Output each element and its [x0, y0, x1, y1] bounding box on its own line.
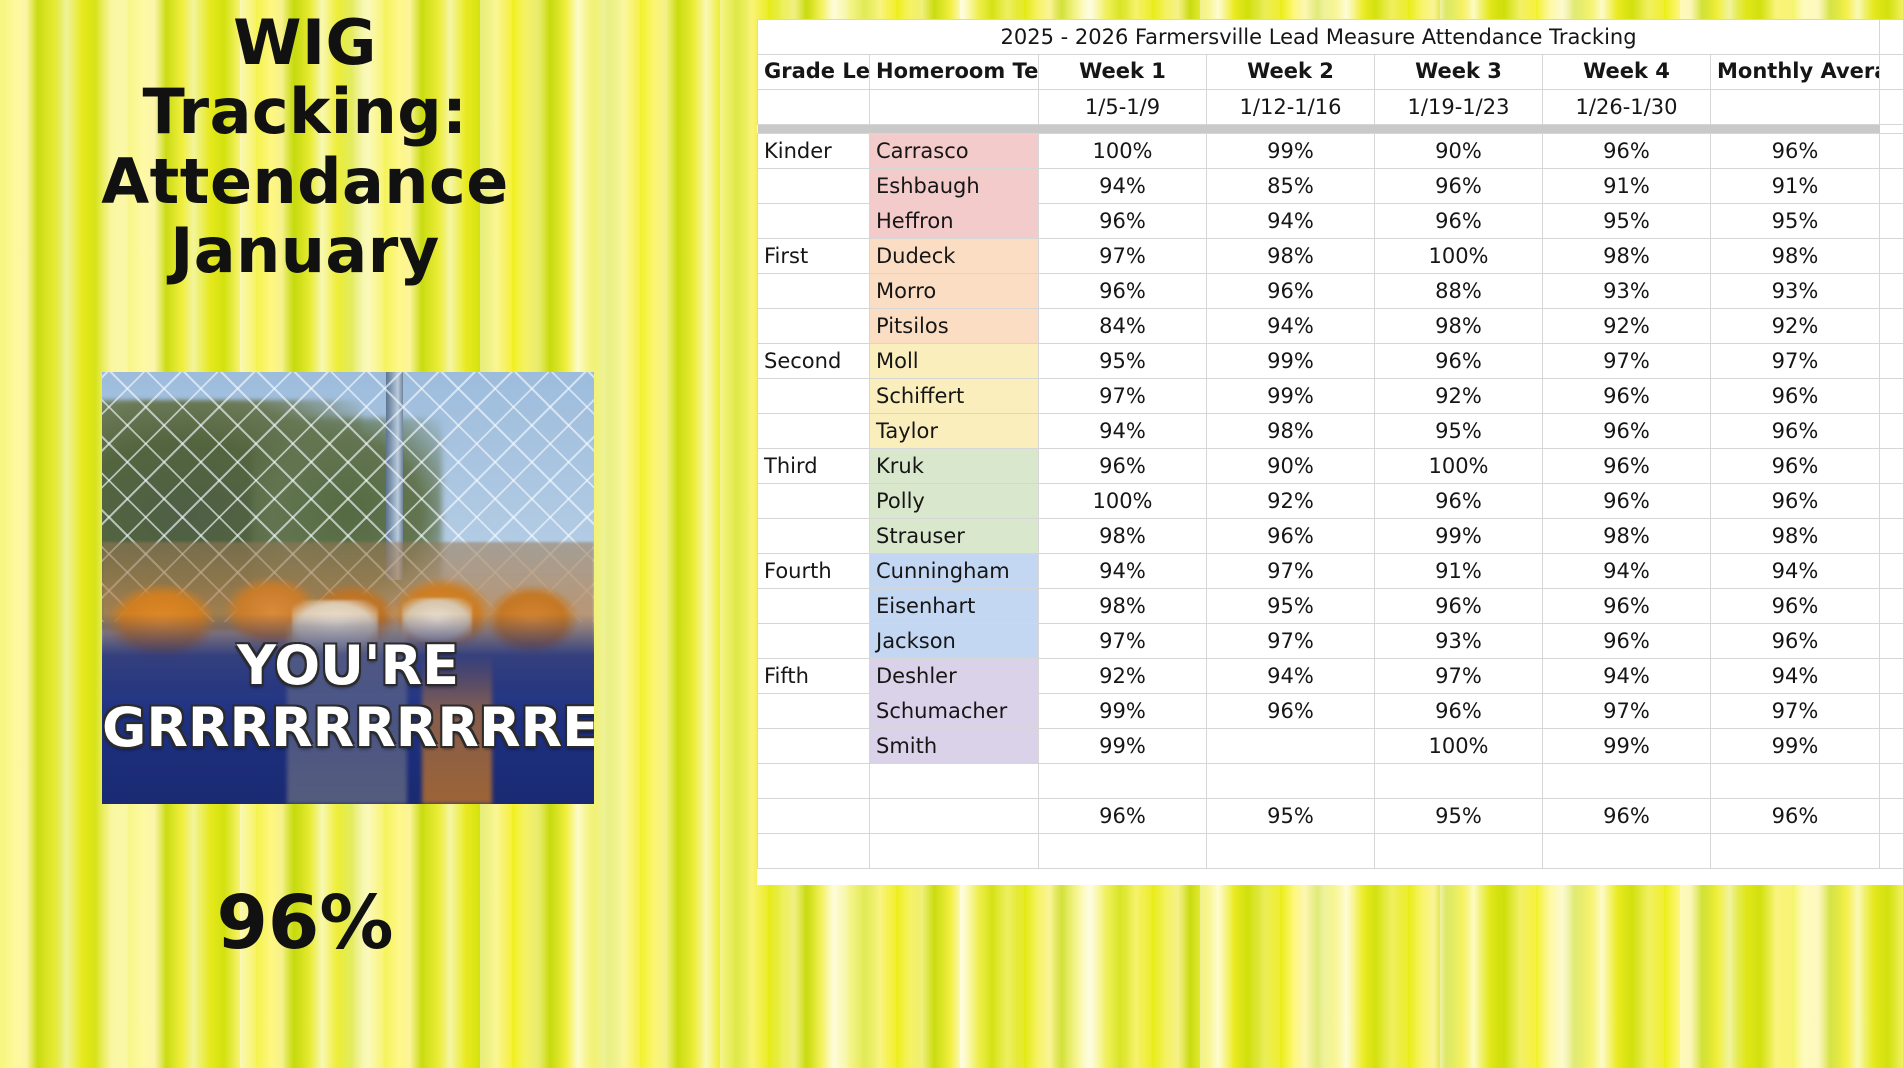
cell-week-4[interactable]: 94%: [1543, 554, 1711, 589]
row-pad-cell: [1880, 134, 1903, 169]
cell-grade-level[interactable]: [758, 519, 870, 554]
cell-week-1[interactable]: 99%: [1039, 694, 1207, 729]
cell-week-4[interactable]: 97%: [1543, 694, 1711, 729]
cell-week-2[interactable]: 96%: [1207, 274, 1375, 309]
table-row: Schumacher99%96%96%97%97%: [758, 694, 1903, 729]
table-row: Polly100%92%96%96%96%: [758, 484, 1903, 519]
cell-week-3[interactable]: 96%: [1375, 204, 1543, 239]
date-week-3[interactable]: 1/19-1/23: [1375, 90, 1543, 125]
spacer-cell[interactable]: [758, 764, 870, 799]
cell-week-3[interactable]: 96%: [1375, 169, 1543, 204]
cell-week-3[interactable]: 98%: [1375, 309, 1543, 344]
cell-week-3[interactable]: 90%: [1375, 134, 1543, 169]
table-row: KinderCarrasco100%99%90%96%96%: [758, 134, 1903, 169]
summary-week-1[interactable]: 96%: [1039, 799, 1207, 834]
summary-week-4[interactable]: 96%: [1543, 799, 1711, 834]
row-pad-cell: [1880, 554, 1903, 589]
table-row: Strauser98%96%99%98%98%: [758, 519, 1903, 554]
cell-week-4[interactable]: 92%: [1543, 309, 1711, 344]
date-monthly-average[interactable]: [1711, 90, 1880, 125]
cell-monthly-average[interactable]: 93%: [1711, 274, 1880, 309]
table-row: Pitsilos84%94%98%92%92%: [758, 309, 1903, 344]
cell-week-1[interactable]: 94%: [1039, 414, 1207, 449]
trailing-cell[interactable]: [758, 834, 870, 869]
cell-week-4[interactable]: 96%: [1543, 624, 1711, 659]
cell-week-1[interactable]: 97%: [1039, 379, 1207, 414]
column-header-row: Grade LevelHomeroom TeacherWeek 1Week 2W…: [758, 55, 1903, 90]
cell-week-2[interactable]: 98%: [1207, 414, 1375, 449]
cell-week-1[interactable]: 84%: [1039, 309, 1207, 344]
gif-caption-line-1: YOU'RE: [102, 634, 594, 697]
cell-teacher-name[interactable]: Cunningham: [870, 554, 1039, 589]
sheet-pad-cell: [1880, 20, 1903, 55]
cell-week-2[interactable]: 94%: [1207, 309, 1375, 344]
cell-grade-level[interactable]: First: [758, 239, 870, 274]
cell-week-1[interactable]: 97%: [1039, 239, 1207, 274]
cell-teacher-name[interactable]: Smith: [870, 729, 1039, 764]
attendance-table-body: 2025 - 2026 Farmersville Lead Measure At…: [758, 20, 1903, 869]
cell-week-4[interactable]: 96%: [1543, 379, 1711, 414]
date-grade-level[interactable]: [758, 90, 870, 125]
row-pad-cell: [1880, 414, 1903, 449]
cell-monthly-average[interactable]: 91%: [1711, 169, 1880, 204]
cell-week-3[interactable]: 95%: [1375, 414, 1543, 449]
spacer-cell[interactable]: [1375, 764, 1543, 799]
cell-week-1[interactable]: 94%: [1039, 554, 1207, 589]
row-pad-cell: [1880, 204, 1903, 239]
frozen-pane-divider: [758, 125, 1903, 134]
trailing-cell[interactable]: [1207, 834, 1375, 869]
summary-pad-cell: [1880, 799, 1903, 834]
spacer-cell[interactable]: [1207, 764, 1375, 799]
page-title: WIG Tracking: Attendance January: [0, 8, 610, 286]
cell-teacher-name[interactable]: Moll: [870, 344, 1039, 379]
cell-monthly-average[interactable]: 98%: [1711, 239, 1880, 274]
row-pad-cell: [1880, 729, 1903, 764]
cell-week-2[interactable]: 85%: [1207, 169, 1375, 204]
summary-monthly-average[interactable]: 96%: [1711, 799, 1880, 834]
cell-monthly-average[interactable]: 96%: [1711, 379, 1880, 414]
cell-week-2[interactable]: 99%: [1207, 379, 1375, 414]
row-pad-cell: [1880, 449, 1903, 484]
attendance-spreadsheet[interactable]: 2025 - 2026 Farmersville Lead Measure At…: [757, 19, 1903, 885]
cell-teacher-name[interactable]: Eshbaugh: [870, 169, 1039, 204]
date-range-row: 1/5-1/91/12-1/161/19-1/231/26-1/30: [758, 90, 1903, 125]
cell-week-3[interactable]: 96%: [1375, 484, 1543, 519]
cell-week-2[interactable]: 96%: [1207, 694, 1375, 729]
table-row: Eisenhart98%95%96%96%96%: [758, 589, 1903, 624]
cell-monthly-average[interactable]: 96%: [1711, 589, 1880, 624]
cell-week-3[interactable]: 96%: [1375, 589, 1543, 624]
cell-week-2[interactable]: 97%: [1207, 624, 1375, 659]
cell-grade-level[interactable]: [758, 274, 870, 309]
table-row: Schiffert97%99%92%96%96%: [758, 379, 1903, 414]
cell-week-2[interactable]: 90%: [1207, 449, 1375, 484]
cell-week-1[interactable]: 96%: [1039, 204, 1207, 239]
trailing-cell[interactable]: [1543, 834, 1711, 869]
cell-week-2[interactable]: 97%: [1207, 554, 1375, 589]
cell-monthly-average[interactable]: 96%: [1711, 624, 1880, 659]
row-pad-cell: [1880, 659, 1903, 694]
cell-week-1[interactable]: 94%: [1039, 169, 1207, 204]
cell-week-4[interactable]: 97%: [1543, 344, 1711, 379]
table-row: Eshbaugh94%85%96%91%91%: [758, 169, 1903, 204]
frozen-pane-bar: [758, 125, 1880, 134]
cell-monthly-average[interactable]: 94%: [1711, 659, 1880, 694]
header-week-1[interactable]: Week 1: [1039, 55, 1207, 90]
cell-week-4[interactable]: 94%: [1543, 659, 1711, 694]
spacer-pad-cell: [1880, 764, 1903, 799]
cell-grade-level[interactable]: [758, 694, 870, 729]
cell-teacher-name[interactable]: Dudeck: [870, 239, 1039, 274]
cell-grade-level[interactable]: [758, 624, 870, 659]
cell-teacher-name[interactable]: Taylor: [870, 414, 1039, 449]
spacer-cell[interactable]: [1543, 764, 1711, 799]
cell-week-4[interactable]: 96%: [1543, 449, 1711, 484]
cell-week-3[interactable]: 99%: [1375, 519, 1543, 554]
cell-grade-level[interactable]: Fourth: [758, 554, 870, 589]
cell-week-4[interactable]: 96%: [1543, 134, 1711, 169]
cell-teacher-name[interactable]: Jackson: [870, 624, 1039, 659]
cell-teacher-name[interactable]: Polly: [870, 484, 1039, 519]
gif-caption-line-2: GRRRRRRRRRREAT: [102, 696, 594, 759]
date-homeroom-teacher[interactable]: [870, 90, 1039, 125]
row-pad-cell: [1880, 624, 1903, 659]
cell-week-2[interactable]: 94%: [1207, 204, 1375, 239]
date-week-1[interactable]: 1/5-1/9: [1039, 90, 1207, 125]
cell-week-4[interactable]: 95%: [1543, 204, 1711, 239]
row-pad-cell: [1880, 379, 1903, 414]
cell-monthly-average[interactable]: 95%: [1711, 204, 1880, 239]
cell-week-1[interactable]: 98%: [1039, 519, 1207, 554]
cell-grade-level[interactable]: [758, 309, 870, 344]
cell-week-1[interactable]: 100%: [1039, 134, 1207, 169]
cell-week-3[interactable]: 97%: [1375, 659, 1543, 694]
table-row: ThirdKruk96%90%100%96%96%: [758, 449, 1903, 484]
cell-teacher-name[interactable]: Pitsilos: [870, 309, 1039, 344]
row-pad-cell: [1880, 169, 1903, 204]
cell-week-2[interactable]: 95%: [1207, 589, 1375, 624]
table-row: FourthCunningham94%97%91%94%94%: [758, 554, 1903, 589]
left-panel: WIG Tracking: Attendance January YOU'RE …: [0, 0, 610, 1068]
cell-monthly-average[interactable]: 97%: [1711, 344, 1880, 379]
cell-week-3[interactable]: 92%: [1375, 379, 1543, 414]
cell-teacher-name[interactable]: Strauser: [870, 519, 1039, 554]
cell-week-3[interactable]: 93%: [1375, 624, 1543, 659]
cell-week-2[interactable]: 98%: [1207, 239, 1375, 274]
table-row: FifthDeshler92%94%97%94%94%: [758, 659, 1903, 694]
cell-monthly-average[interactable]: 96%: [1711, 484, 1880, 519]
cell-teacher-name[interactable]: Schiffert: [870, 379, 1039, 414]
trailing-cell[interactable]: [1711, 834, 1880, 869]
cell-week-1[interactable]: 99%: [1039, 729, 1207, 764]
row-pad-cell: [1880, 519, 1903, 554]
cell-week-2[interactable]: 92%: [1207, 484, 1375, 519]
cell-monthly-average[interactable]: 94%: [1711, 554, 1880, 589]
header-pad-cell: [1880, 55, 1903, 90]
cell-teacher-name[interactable]: Carrasco: [870, 134, 1039, 169]
cell-week-4[interactable]: 96%: [1543, 414, 1711, 449]
summary-grade-level[interactable]: [758, 799, 870, 834]
overall-average-value: 96%: [0, 880, 610, 966]
header-week-4[interactable]: Week 4: [1543, 55, 1711, 90]
cell-monthly-average[interactable]: 96%: [1711, 449, 1880, 484]
trailing-pad-cell: [1880, 834, 1903, 869]
cell-monthly-average[interactable]: 99%: [1711, 729, 1880, 764]
cell-week-2[interactable]: 94%: [1207, 659, 1375, 694]
cell-week-1[interactable]: 96%: [1039, 274, 1207, 309]
table-row: Heffron96%94%96%95%95%: [758, 204, 1903, 239]
attendance-table: 2025 - 2026 Farmersville Lead Measure At…: [757, 19, 1903, 869]
mascot-gif: YOU'RE GRRRRRRRRRREAT: [102, 372, 594, 804]
cell-monthly-average[interactable]: 98%: [1711, 519, 1880, 554]
cell-week-3[interactable]: 88%: [1375, 274, 1543, 309]
spacer-row: [758, 764, 1903, 799]
row-pad-cell: [1880, 694, 1903, 729]
date-week-2[interactable]: 1/12-1/16: [1207, 90, 1375, 125]
cell-week-1[interactable]: 96%: [1039, 449, 1207, 484]
cell-grade-level[interactable]: [758, 204, 870, 239]
table-row: FirstDudeck97%98%100%98%98%: [758, 239, 1903, 274]
spacer-cell[interactable]: [870, 764, 1039, 799]
cell-week-4[interactable]: 96%: [1543, 484, 1711, 519]
row-pad-cell: [1880, 344, 1903, 379]
cell-grade-level[interactable]: [758, 729, 870, 764]
cell-grade-level[interactable]: Kinder: [758, 134, 870, 169]
sheet-title-row: 2025 - 2026 Farmersville Lead Measure At…: [758, 20, 1903, 55]
cell-week-4[interactable]: 96%: [1543, 589, 1711, 624]
cell-teacher-name[interactable]: Kruk: [870, 449, 1039, 484]
cell-grade-level[interactable]: [758, 484, 870, 519]
cell-week-1[interactable]: 98%: [1039, 589, 1207, 624]
cell-week-3[interactable]: 96%: [1375, 344, 1543, 379]
header-week-2[interactable]: Week 2: [1207, 55, 1375, 90]
cell-teacher-name[interactable]: Morro: [870, 274, 1039, 309]
sheet-title: 2025 - 2026 Farmersville Lead Measure At…: [758, 20, 1880, 55]
table-row: Taylor94%98%95%96%96%: [758, 414, 1903, 449]
table-row: Morro96%96%88%93%93%: [758, 274, 1903, 309]
header-grade-level[interactable]: Grade Level: [758, 55, 870, 90]
row-pad-cell: [1880, 309, 1903, 344]
table-row: Smith99%100%99%99%: [758, 729, 1903, 764]
cell-grade-level[interactable]: [758, 169, 870, 204]
cell-monthly-average[interactable]: 97%: [1711, 694, 1880, 729]
summary-week-3[interactable]: 95%: [1375, 799, 1543, 834]
cell-teacher-name[interactable]: Deshler: [870, 659, 1039, 694]
cell-week-3[interactable]: 100%: [1375, 449, 1543, 484]
cell-week-2[interactable]: 99%: [1207, 344, 1375, 379]
header-week-3[interactable]: Week 3: [1375, 55, 1543, 90]
trailing-cell[interactable]: [870, 834, 1039, 869]
cell-teacher-name[interactable]: Eisenhart: [870, 589, 1039, 624]
cell-grade-level[interactable]: [758, 379, 870, 414]
table-row: Jackson97%97%93%96%96%: [758, 624, 1903, 659]
table-row: SecondMoll95%99%96%97%97%: [758, 344, 1903, 379]
header-homeroom-teacher[interactable]: Homeroom Teacher: [870, 55, 1039, 90]
row-pad-cell: [1880, 484, 1903, 519]
spacer-cell[interactable]: [1039, 764, 1207, 799]
cell-week-4[interactable]: 98%: [1543, 519, 1711, 554]
cell-monthly-average[interactable]: 96%: [1711, 414, 1880, 449]
cell-week-1[interactable]: 100%: [1039, 484, 1207, 519]
cell-week-1[interactable]: 92%: [1039, 659, 1207, 694]
cell-week-4[interactable]: 99%: [1543, 729, 1711, 764]
cell-week-3[interactable]: 91%: [1375, 554, 1543, 589]
trailing-cell[interactable]: [1375, 834, 1543, 869]
cell-week-1[interactable]: 95%: [1039, 344, 1207, 379]
cell-grade-level[interactable]: [758, 589, 870, 624]
cell-grade-level[interactable]: Second: [758, 344, 870, 379]
row-pad-cell: [1880, 589, 1903, 624]
trailing-blank-row: [758, 834, 1903, 869]
cell-week-4[interactable]: 91%: [1543, 169, 1711, 204]
cell-week-4[interactable]: 93%: [1543, 274, 1711, 309]
cell-week-2[interactable]: [1207, 729, 1375, 764]
cell-week-3[interactable]: 100%: [1375, 729, 1543, 764]
trailing-cell[interactable]: [1039, 834, 1207, 869]
cell-week-2[interactable]: 99%: [1207, 134, 1375, 169]
cell-grade-level[interactable]: Fifth: [758, 659, 870, 694]
spacer-cell[interactable]: [1711, 764, 1880, 799]
frozen-pane-pad: [1880, 125, 1903, 134]
cell-grade-level[interactable]: Third: [758, 449, 870, 484]
summary-teacher[interactable]: [870, 799, 1039, 834]
summary-week-2[interactable]: 95%: [1207, 799, 1375, 834]
cell-grade-level[interactable]: [758, 414, 870, 449]
cell-teacher-name[interactable]: Heffron: [870, 204, 1039, 239]
cell-week-1[interactable]: 97%: [1039, 624, 1207, 659]
cell-monthly-average[interactable]: 92%: [1711, 309, 1880, 344]
row-pad-cell: [1880, 239, 1903, 274]
cell-teacher-name[interactable]: Schumacher: [870, 694, 1039, 729]
cell-monthly-average[interactable]: 96%: [1711, 134, 1880, 169]
date-week-4[interactable]: 1/26-1/30: [1543, 90, 1711, 125]
cell-week-2[interactable]: 96%: [1207, 519, 1375, 554]
cell-week-4[interactable]: 98%: [1543, 239, 1711, 274]
date-pad-cell: [1880, 90, 1903, 125]
cell-week-3[interactable]: 100%: [1375, 239, 1543, 274]
row-pad-cell: [1880, 274, 1903, 309]
summary-row: 96%95%95%96%96%: [758, 799, 1903, 834]
cell-week-3[interactable]: 96%: [1375, 694, 1543, 729]
header-monthly-average[interactable]: Monthly Average: [1711, 55, 1880, 90]
